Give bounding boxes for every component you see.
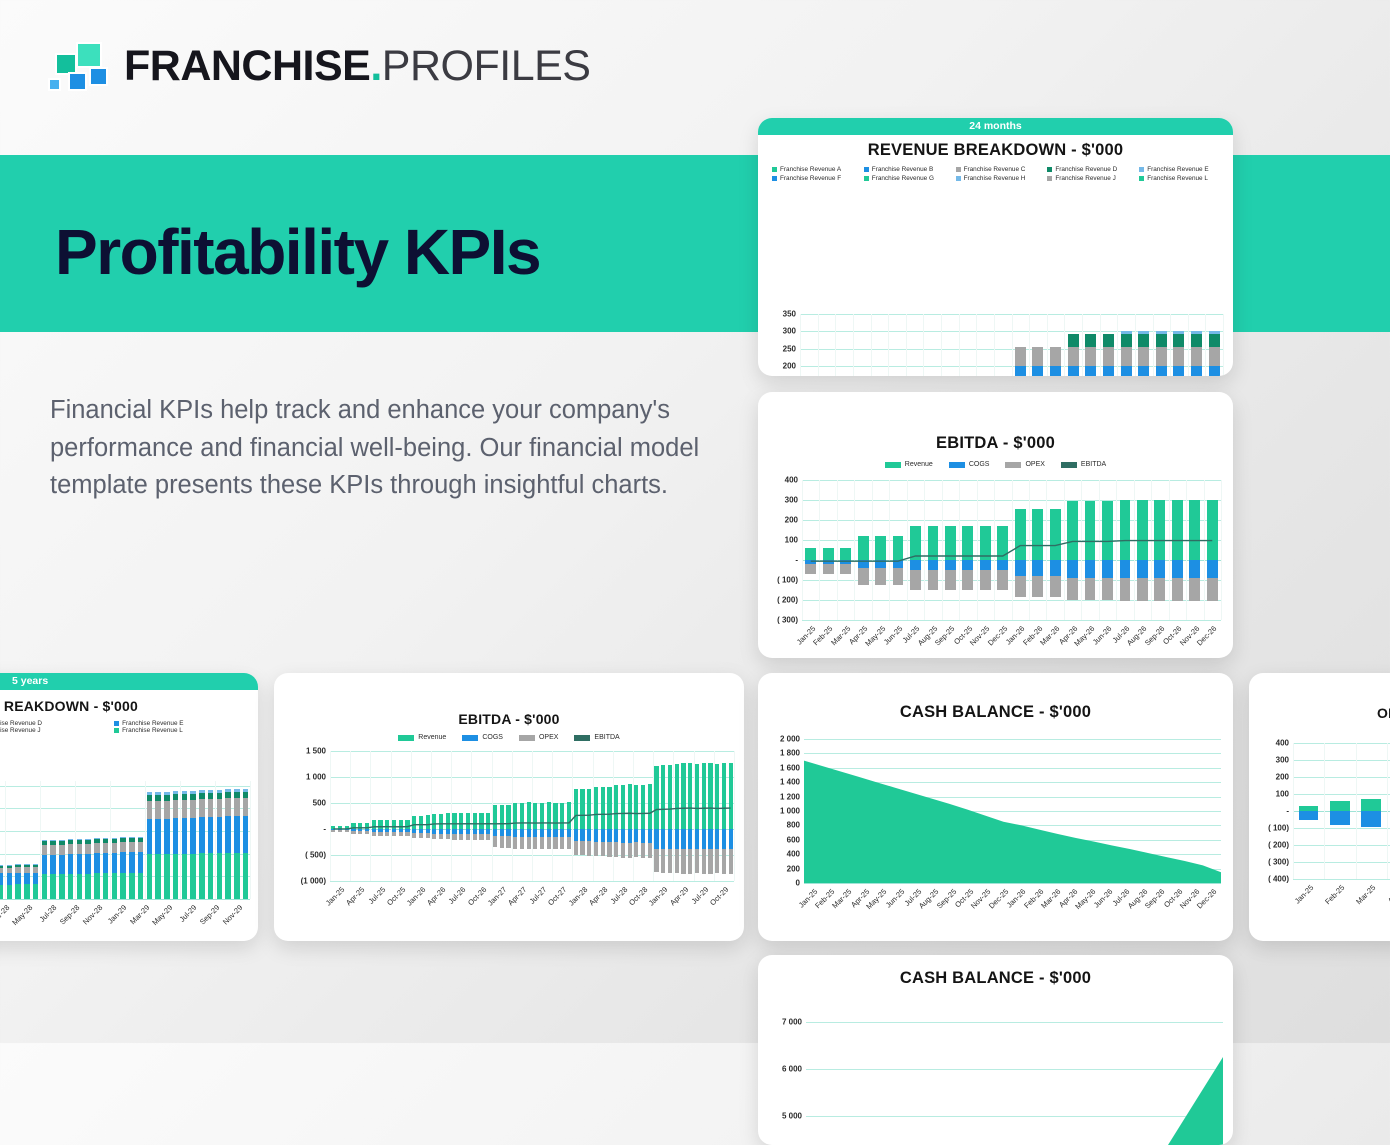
legend-label: Franchise Revenue D [1055, 166, 1117, 173]
bar-segment [68, 839, 73, 841]
x-axis-tick: Feb-25 [819, 622, 836, 623]
bar-segment [33, 864, 38, 865]
bar-segment [112, 838, 117, 840]
y-axis-label: 800 [787, 821, 800, 830]
bar-segment [234, 789, 239, 792]
x-axis-label: Mar-25 [1354, 883, 1377, 906]
legend-swatch [519, 735, 535, 741]
bar-segment [7, 873, 12, 884]
bar-segment [217, 793, 222, 799]
brand-wordmark: FRANCHISE.PROFILES [124, 42, 590, 91]
legend-item: Franchise Revenue L [110, 727, 252, 734]
y-axis-label: ( 100) [777, 576, 798, 585]
card-ebitda-24m[interactable]: EBITDA - $'000 RevenueCOGSOPEXEBITDA ( 3… [758, 392, 1233, 658]
bar-segment [77, 854, 82, 874]
period-badge-24-months: 24 months [758, 118, 1233, 135]
y-axis-label: - [323, 825, 326, 834]
y-axis-label: 1 000 [780, 807, 800, 816]
intro-paragraph: Financial KPIs help track and enhance yo… [50, 392, 720, 505]
x-axis-label: Mar-28 [0, 903, 11, 926]
plot-revenue-24m: -50100150200250300350 [800, 314, 1223, 376]
bar-segment [225, 798, 230, 817]
legend-label: Franchise Revenue L [1147, 175, 1208, 182]
bar-segment [155, 819, 160, 854]
bar-segment [1138, 347, 1149, 366]
x-axis-tick: Nov-28 [87, 901, 110, 902]
card-revenue-breakdown-24m[interactable]: 24 months REVENUE BREAKDOWN - $'000 Fran… [758, 118, 1233, 376]
y-axis-label: 400 [787, 850, 800, 859]
legend-item: Revenue [885, 461, 933, 468]
x-axis-label: Jul-28 [37, 903, 58, 924]
legend-item: EBITDA [1061, 461, 1106, 468]
bar-segment [50, 855, 55, 874]
x-axis-label: Jul-28 [608, 885, 629, 906]
plot-cash-5y: 5 0006 0007 000 [806, 1003, 1223, 1145]
x-axis-label: Sep-29 [198, 903, 221, 926]
bar-segment [1156, 347, 1167, 366]
bar-segment [50, 845, 55, 855]
vertical-gridline [1082, 314, 1083, 376]
bar-segment [33, 884, 38, 899]
bar-segment [173, 818, 178, 854]
bar-segment [85, 854, 90, 874]
chart-title-cash-5y: CASH BALANCE - $'000 [758, 969, 1233, 988]
vertical-gridline [1100, 314, 1101, 376]
y-axis-label: 300 [785, 496, 798, 505]
x-axis-tick: Jun-26 [1099, 622, 1116, 623]
legend-label: Franchise Revenue G [872, 175, 934, 182]
bar-segment [42, 855, 47, 874]
brand-logo: FRANCHISE.PROFILES [46, 40, 590, 92]
legend-label: EBITDA [594, 734, 619, 741]
bar-segment [68, 874, 73, 899]
bar-segment [1068, 334, 1079, 347]
x-axis-tick: Oct-26 [1169, 622, 1186, 623]
bar-segment [182, 794, 187, 800]
gridline [802, 620, 1221, 621]
bar-segment [15, 873, 20, 885]
legend-item: Franchise Revenue D [0, 720, 110, 727]
x-axis-label: Jan-27 [485, 885, 508, 908]
bar-segment [234, 816, 239, 852]
legend-label: Franchise Revenue H [964, 175, 1026, 182]
x-axis-label: Jan-25 [324, 885, 347, 908]
bar-segment [15, 865, 20, 867]
vertical-gridline [1223, 314, 1224, 376]
bar-segment [147, 795, 152, 801]
legend-label: Franchise Revenue B [872, 166, 933, 173]
x-axis-tick: Apr-25 [856, 885, 873, 886]
x-axis-tick: Jun-25 [889, 622, 906, 623]
bar-segment [1209, 366, 1220, 376]
x-axis-tick: Apr-26 [431, 883, 451, 884]
bar-segment [120, 842, 125, 853]
x-axis-tick: Nov-29 [227, 901, 250, 902]
chart-title-opex: OPE [1249, 705, 1390, 721]
bar-segment [42, 840, 47, 841]
legend-swatch [885, 462, 901, 468]
vertical-gridline [1324, 743, 1325, 879]
x-axis-tick: Jun-26 [1099, 885, 1116, 886]
bar-segment [1068, 347, 1079, 366]
bar-segment [1121, 334, 1132, 347]
x-axis-tick: Jul-26 [1117, 885, 1134, 886]
legend-item: Franchise Revenue C [950, 166, 1042, 173]
y-axis-label: (1 000) [301, 877, 326, 886]
bar-segment [94, 843, 99, 853]
bar-segment [1361, 811, 1380, 827]
legend-swatch [114, 721, 119, 726]
chart-title-cash-24m: CASH BALANCE - $'000 [758, 703, 1233, 722]
legend-label: Revenue [418, 734, 446, 741]
period-badge-5-years: 5 years [0, 673, 258, 690]
bar-segment [59, 841, 64, 844]
bar-segment [173, 791, 178, 794]
y-axis-label: 2 000 [780, 735, 800, 744]
xaxis-ebitda-24m: Jan-25Feb-25Mar-25Apr-25May-25Jun-25Jul-… [802, 622, 1221, 623]
bar-segment [68, 840, 73, 843]
legend-swatch [1139, 167, 1144, 172]
bar-segment [208, 790, 213, 793]
vertical-gridline [888, 314, 889, 376]
bar-segment [1015, 366, 1026, 376]
bar-segment [50, 874, 55, 899]
x-axis-tick: Nov-25 [977, 622, 994, 623]
bar-segment [103, 839, 108, 842]
bar-segment [77, 844, 82, 854]
bar-segment [225, 853, 230, 899]
x-axis-tick: Feb-26 [1030, 885, 1047, 886]
bar-segment [173, 854, 178, 899]
x-axis-label: Apr-26 [425, 885, 447, 907]
x-axis-tick: Jan-25 [804, 885, 821, 886]
bar-segment [1121, 331, 1132, 334]
bar-segment [103, 873, 108, 899]
bar-segment [120, 837, 125, 839]
brand-dot: . [370, 42, 381, 90]
x-axis-tick: Sep-26 [1152, 885, 1169, 886]
legend-label: COGS [969, 461, 990, 468]
x-axis-label: Jan-25 [1292, 883, 1315, 906]
x-axis-tick: Oct-27 [552, 883, 572, 884]
legend-item: COGS [462, 734, 503, 741]
legend-label: Franchise Revenue D [0, 720, 42, 727]
bar-segment [199, 853, 204, 899]
card-ebitda-5y[interactable]: EBITDA - $'000 RevenueCOGSOPEXEBITDA (1 … [274, 673, 744, 941]
legend-label: Franchise Revenue E [1147, 166, 1208, 173]
vertical-gridline [853, 314, 854, 376]
x-axis-tick: Nov-25 [978, 885, 995, 886]
legend-revenue-24m: Franchise Revenue AFranchise Revenue BFr… [758, 166, 1233, 184]
x-axis-tick: May-26 [1081, 622, 1098, 623]
vertical-gridline [734, 751, 735, 881]
legend-swatch [772, 167, 777, 172]
x-axis-tick: Feb-26 [1029, 622, 1046, 623]
bar-segment [120, 852, 125, 873]
bar-segment [24, 864, 29, 865]
bar-segment [129, 873, 134, 899]
bar-segment [1050, 366, 1061, 376]
bar-segment [15, 864, 20, 865]
vertical-gridline [818, 314, 819, 376]
vertical-gridline [959, 314, 960, 376]
x-axis-tick: Dec-25 [995, 885, 1012, 886]
vertical-gridline [1135, 314, 1136, 376]
x-axis-tick: Sep-28 [63, 901, 86, 902]
plot-revenue-5y [0, 781, 250, 899]
bar-segment [164, 792, 169, 795]
bar-segment [182, 800, 187, 818]
bar-segment [225, 789, 230, 792]
card-opex-partial[interactable]: OPE ( 400)( 300)( 200)( 100)-10020030040… [1249, 673, 1390, 941]
card-revenue-breakdown-5y[interactable]: 5 years REAKDOWN - $'000 Franchise Reven… [0, 673, 258, 941]
y-axis-label: ( 100) [1268, 824, 1289, 833]
gridline [0, 786, 250, 787]
x-axis-label: Jan-28 [566, 885, 589, 908]
vertical-gridline [1387, 743, 1388, 879]
x-axis-tick: May-25 [872, 622, 889, 623]
x-axis-tick: Oct-25 [959, 622, 976, 623]
vertical-gridline [250, 781, 251, 899]
brand-name-light: PROFILES [382, 42, 591, 90]
bar-segment [85, 840, 90, 843]
bar-segment [217, 853, 222, 899]
bar-segment [33, 867, 38, 873]
bar-segment [1209, 334, 1220, 347]
bar-segment [243, 792, 248, 798]
plot-cash-24m: 02004006008001 0001 2001 4001 6001 8002 … [804, 739, 1221, 883]
bar-segment [24, 867, 29, 873]
x-axis-tick: May-28 [17, 901, 40, 902]
x-axis-tick: Oct-28 [633, 883, 653, 884]
bar-segment [182, 791, 187, 794]
logo-mark-icon [46, 40, 108, 92]
bar-segment [77, 874, 82, 899]
bar-segment [94, 873, 99, 899]
x-axis-tick: Aug-25 [926, 885, 943, 886]
bar-segment [1085, 366, 1096, 376]
vertical-gridline [976, 314, 977, 376]
bar-segment [1173, 331, 1184, 334]
bar-segment [120, 838, 125, 841]
y-axis-label: 200 [1276, 773, 1289, 782]
bar-segment [1015, 347, 1026, 366]
bar-segment [112, 843, 117, 853]
bar-segment [155, 795, 160, 801]
x-axis-tick: Jul-29 [180, 901, 203, 902]
vertical-gridline [906, 314, 907, 376]
plot-opex: ( 400)( 300)( 200)( 100)-100200300400 [1293, 743, 1390, 879]
x-axis-label: Jun-26 [1091, 624, 1114, 647]
bar-segment [147, 819, 152, 854]
x-axis-tick: Jul-25 [370, 883, 390, 884]
legend-ebitda-5y: RevenueCOGSOPEXEBITDA [274, 734, 744, 741]
legend-item: Revenue [398, 734, 446, 741]
x-axis-tick: Apr-25 [854, 622, 871, 623]
bar-segment [155, 854, 160, 899]
bar-segment [77, 839, 82, 841]
legend-item: Franchise Revenue D [1041, 166, 1133, 173]
card-cash-balance-5y[interactable]: CASH BALANCE - $'000 5 0006 0007 000 [758, 955, 1233, 1145]
x-axis-tick: Jul-25 [908, 885, 925, 886]
bar-segment [50, 840, 55, 841]
vertical-gridline [1221, 480, 1222, 620]
gridline [1293, 743, 1390, 744]
xaxis-opex: Jan-25Feb-25Mar-25Apr-25May-25Jun-25Jul-… [1293, 881, 1390, 882]
bar-segment [155, 792, 160, 795]
y-axis-label: 350 [783, 310, 796, 319]
legend-ebitda-24m: RevenueCOGSOPEXEBITDA [758, 461, 1233, 468]
x-axis-tick: Oct-25 [391, 883, 411, 884]
bar-segment [0, 868, 3, 874]
x-axis-tick: Jan-27 [492, 883, 512, 884]
bar-segment [1173, 347, 1184, 366]
legend-label: OPEX [539, 734, 558, 741]
bar-segment [15, 867, 20, 873]
y-axis-label: 5 000 [782, 1111, 802, 1120]
legend-swatch [864, 167, 869, 172]
x-axis-label: Oct-26 [466, 885, 488, 907]
x-axis-label: Mar-29 [128, 903, 151, 926]
x-axis-tick: Jul-28 [613, 883, 633, 884]
bar-segment [138, 852, 143, 873]
x-axis-tick: Oct-25 [960, 885, 977, 886]
bar-segment [1191, 334, 1202, 347]
bar-segment [199, 817, 204, 853]
bar-segment [112, 873, 117, 899]
x-axis-label: Sep-28 [58, 903, 81, 926]
x-axis-tick: Jul-26 [451, 883, 471, 884]
bar-segment [7, 866, 12, 868]
x-axis-label: Jan-29 [105, 903, 128, 926]
vertical-gridline [1153, 314, 1154, 376]
legend-swatch [574, 735, 590, 741]
x-axis-tick: Jun-25 [891, 885, 908, 886]
y-axis-label: 1 800 [780, 749, 800, 758]
gridline [1293, 862, 1390, 863]
bar-segment [1103, 347, 1114, 366]
legend-item: Franchise Revenue A [766, 166, 858, 173]
x-axis-tick: Jan-26 [1011, 622, 1028, 623]
bar-segment [1156, 366, 1167, 376]
y-axis-label: ( 200) [777, 596, 798, 605]
bar-segment [190, 818, 195, 854]
y-axis-label: 1 500 [306, 747, 326, 756]
y-axis-label: 400 [1276, 739, 1289, 748]
y-axis-label: 400 [785, 476, 798, 485]
bar-segment [1121, 366, 1132, 376]
x-axis-tick: Jan-29 [110, 901, 133, 902]
x-axis-tick: May-26 [1082, 885, 1099, 886]
x-axis-tick: Apr-28 [593, 883, 613, 884]
bar-segment [103, 838, 108, 840]
chart-title-revenue-24m: REVENUE BREAKDOWN - $'000 [758, 141, 1233, 160]
bar-segment [50, 841, 55, 844]
bar-segment [199, 793, 204, 799]
vertical-gridline [994, 314, 995, 376]
bar-segment [164, 801, 169, 819]
legend-swatch [956, 167, 961, 172]
y-axis-label: ( 300) [777, 616, 798, 625]
vertical-gridline [923, 314, 924, 376]
y-axis-label: 1 600 [780, 763, 800, 772]
bar-segment [0, 873, 3, 884]
bar-segment [7, 885, 12, 899]
vertical-gridline [1064, 314, 1065, 376]
vertical-gridline [835, 314, 836, 376]
y-axis-label: 0 [796, 879, 800, 888]
brand-name-bold: FRANCHISE [124, 42, 370, 90]
legend-item: Franchise Revenue J [1041, 175, 1133, 182]
bar-segment [94, 838, 99, 840]
x-axis-label: Jul-25 [366, 885, 387, 906]
bar-segment [1085, 347, 1096, 366]
vertical-gridline [1356, 743, 1357, 879]
y-axis-label: ( 400) [1268, 875, 1289, 884]
bar-segment [234, 798, 239, 817]
bar-segment [1050, 347, 1061, 366]
x-axis-tick: Dec-26 [1203, 622, 1220, 623]
vertical-gridline [871, 314, 872, 376]
bar-segment [182, 818, 187, 854]
card-cash-balance-24m[interactable]: CASH BALANCE - $'000 02004006008001 0001… [758, 673, 1233, 941]
x-axis-label: Jan-26 [405, 885, 428, 908]
bar-segment [208, 793, 213, 799]
legend-label: Franchise Revenue J [1055, 175, 1115, 182]
bar-segment [1191, 347, 1202, 366]
gridline [804, 883, 1221, 884]
x-axis-tick: Jul-26 [1116, 622, 1133, 623]
bar-segment [199, 799, 204, 818]
x-axis-tick: Oct-26 [471, 883, 491, 884]
x-axis-tick: Jan-26 [1013, 885, 1030, 886]
gridline [1293, 777, 1390, 778]
x-axis-tick: Jan-26 [411, 883, 431, 884]
bar-segment [234, 853, 239, 899]
legend-swatch [114, 728, 119, 733]
vertical-gridline [1029, 314, 1030, 376]
bar-segment [1068, 366, 1079, 376]
bar-segment [147, 854, 152, 899]
bar-segment [85, 874, 90, 899]
y-axis-label: ( 200) [1268, 841, 1289, 850]
bar-segment [24, 873, 29, 885]
bar-segment [59, 855, 64, 874]
y-axis-label: 6 000 [782, 1064, 802, 1073]
x-axis-label: Oct-29 [708, 885, 730, 907]
bar-segment [1173, 366, 1184, 376]
bar-segment [1330, 811, 1349, 825]
bar-segment [1121, 347, 1132, 366]
x-axis-tick: Oct-29 [714, 883, 734, 884]
bar-segment [42, 841, 47, 844]
bar-segment [243, 789, 248, 792]
bar-segment [138, 842, 143, 853]
x-axis-tick: Apr-25 [350, 883, 370, 884]
bar-segment [243, 816, 248, 852]
bar-segment [129, 852, 134, 873]
x-axis-tick: Jan-25 [330, 883, 350, 884]
legend-swatch [1005, 462, 1021, 468]
area-series [806, 1003, 1223, 1145]
bar-segment [1138, 366, 1149, 376]
x-axis-tick: Apr-29 [673, 883, 693, 884]
bar-segment [182, 854, 187, 899]
x-axis-tick: Mar-26 [1046, 622, 1063, 623]
y-axis-label: 1 400 [780, 778, 800, 787]
legend-item: Franchise Revenue F [766, 175, 858, 182]
bar-segment [208, 799, 213, 818]
